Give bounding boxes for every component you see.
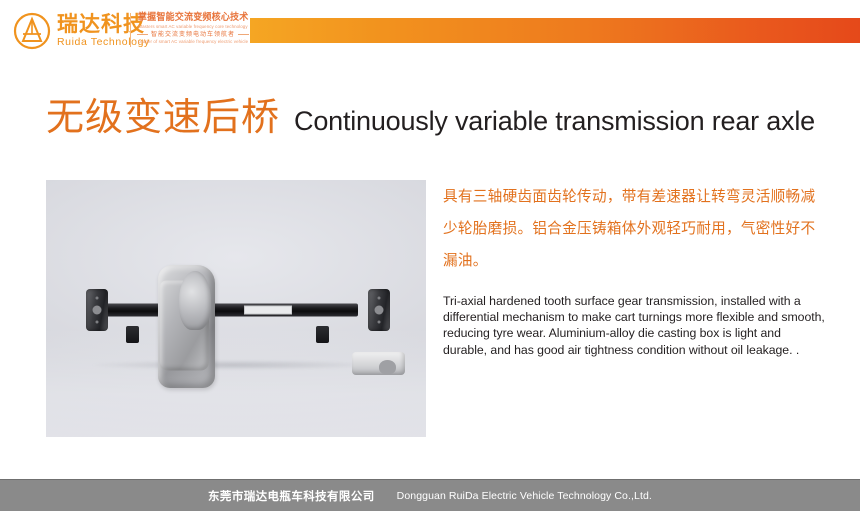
- mounting-block: [352, 352, 405, 375]
- description-cn: 具有三轴硬齿面齿轮传动，带有差速器让转弯灵活顺畅减少轮胎磨损。铝合金压铸箱体外观…: [443, 181, 825, 277]
- tagline-en-sub: Leader of smart AC variable frequency el…: [138, 40, 248, 44]
- wheel-flange-right: [368, 289, 390, 331]
- axle-shadow: [92, 360, 373, 370]
- ruida-circle-a-logo-icon: [12, 11, 52, 51]
- rule-left: [137, 34, 148, 35]
- tagline-cn-main: 掌握智能交流变频核心技术: [138, 13, 249, 23]
- mount-bracket-left: [126, 326, 139, 343]
- rear-axle-assembly: [46, 180, 426, 437]
- tagline-cn-sub: 智能交流变频电动车领航者: [151, 32, 235, 38]
- rule-right: [238, 34, 249, 35]
- axle-sticker-label: [244, 305, 292, 314]
- wheel-flange-left: [86, 289, 108, 331]
- header-gradient-bar: [250, 18, 860, 43]
- page-title-en: Continuously variable transmission rear …: [294, 108, 815, 135]
- mount-bracket-right: [316, 326, 329, 343]
- header-divider: [130, 13, 131, 47]
- page-header: 瑞达科技 Ruida Technology 掌握智能交流变频核心技术 Maste…: [0, 0, 860, 60]
- description-en: Tri-axial hardened tooth surface gear tr…: [443, 293, 825, 358]
- page-footer: 东莞市瑞达电瓶车科技有限公司 Dongguan RuiDa Electric V…: [0, 479, 860, 511]
- brand-tagline: 掌握智能交流变频核心技术 Masters smart AC variable f…: [137, 13, 249, 44]
- slide-root: 瑞达科技 Ruida Technology 掌握智能交流变频核心技术 Maste…: [0, 0, 860, 511]
- page-title-cn: 无级变速后桥: [46, 98, 280, 136]
- page-title: 无级变速后桥 Continuously variable transmissio…: [46, 98, 815, 136]
- description-column: 具有三轴硬齿面齿轮传动，带有差速器让转弯灵活顺畅减少轮胎磨损。铝合金压铸箱体外观…: [443, 181, 825, 358]
- tagline-en-main: Masters smart AC variable frequency core…: [138, 25, 247, 29]
- product-photo: [46, 180, 426, 437]
- gearbox-cover: [179, 271, 211, 330]
- footer-company-en: Dongguan RuiDa Electric Vehicle Technolo…: [397, 490, 652, 502]
- tagline-rule: 智能交流变频电动车领航者: [137, 32, 249, 38]
- brand-name-en: Ruida Technology: [57, 37, 150, 48]
- footer-company-cn: 东莞市瑞达电瓶车科技有限公司: [208, 488, 375, 504]
- brand-name-cn: 瑞达科技: [57, 14, 150, 35]
